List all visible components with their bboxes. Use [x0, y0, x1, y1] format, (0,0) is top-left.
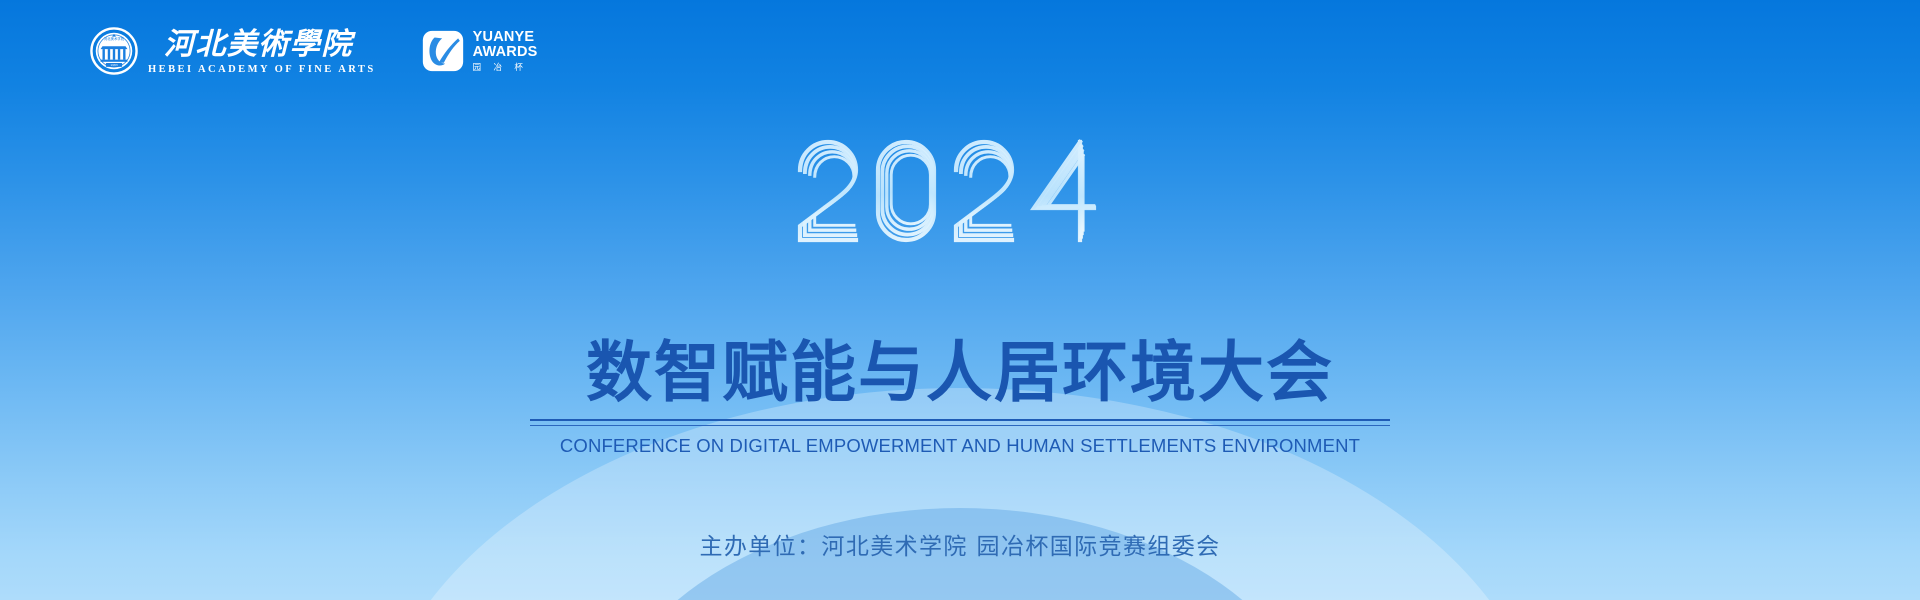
yuanye-name-cn: 园 冶 杯: [473, 63, 538, 72]
svg-text:1983: 1983: [110, 63, 117, 67]
year-2024-graphic: [790, 130, 1130, 254]
svg-text:河北美術學院: 河北美術學院: [164, 27, 356, 62]
yuanye-wordmark: YUANYE AWARDS 园 冶 杯: [473, 30, 538, 72]
divider-line-top: [530, 419, 1390, 421]
conference-title-cn: 数智赋能与人居环境大会: [530, 338, 1390, 408]
divider-line-bottom: [530, 425, 1390, 426]
title-divider: [530, 419, 1390, 426]
headline-block: 数智赋能与人居环境大会 CONFERENCE ON DIGITAL EMPOWE…: [530, 338, 1390, 457]
svg-text:河北美术学院: 河北美术学院: [104, 35, 125, 40]
hebei-name-cn-icon: 河北美術學院: [148, 26, 376, 62]
hebei-academy-logo[interactable]: 1983 河北美术学院 河北美術學院 HEBEI ACADEMY OF FINE…: [90, 26, 376, 75]
conference-banner: 1983 河北美术学院 河北美術學院 HEBEI ACADEMY OF FINE…: [0, 0, 1920, 600]
conference-title-en: CONFERENCE ON DIGITAL EMPOWERMENT AND HU…: [530, 435, 1390, 457]
yuanye-leaf-mark-icon: [422, 30, 464, 72]
logo-bar: 1983 河北美术学院 河北美術學院 HEBEI ACADEMY OF FINE…: [90, 26, 538, 75]
yuanye-line2: AWARDS: [473, 45, 538, 60]
academy-seal-icon: 1983 河北美术学院: [90, 27, 138, 75]
organizer-line: 主办单位：河北美术学院 园冶杯国际竞赛组委会: [699, 527, 1220, 561]
hebei-name-en: HEBEI ACADEMY OF FINE ARTS: [148, 64, 376, 75]
year-2024-icon: [790, 130, 1130, 254]
hebei-academy-wordmark: 河北美術學院 HEBEI ACADEMY OF FINE ARTS: [148, 26, 376, 75]
yuanye-awards-logo[interactable]: YUANYE AWARDS 园 冶 杯: [422, 30, 538, 72]
yuanye-line1: YUANYE: [473, 30, 538, 45]
